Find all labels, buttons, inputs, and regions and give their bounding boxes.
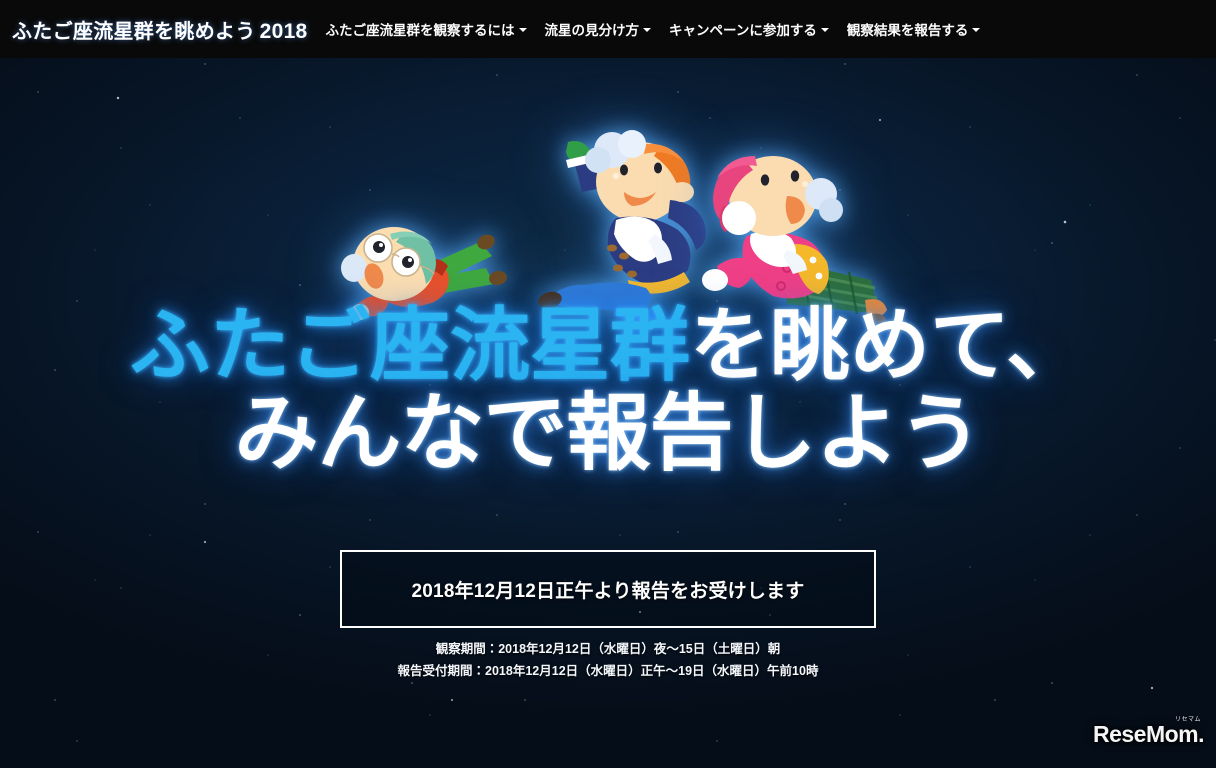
site-brand-logo[interactable]: ふたご座流星群を眺めよう2018 <box>0 15 308 44</box>
nav-item-label: 観察結果を報告する <box>847 19 969 39</box>
navigation-links: ふたご座流星群を観察するには 流星の見分け方 キャンペーンに参加する 観察結果を… <box>326 19 981 39</box>
page-root: ふたご座流星群を眺めよう2018 ふたご座流星群を観察するには 流星の見分け方 … <box>0 0 1216 768</box>
stargazing-illustration <box>330 130 890 330</box>
hero-headline: ふたご座流星群を眺めて、 みんなで報告しよう <box>0 308 1216 473</box>
nav-item-how-to-observe[interactable]: ふたご座流星群を観察するには <box>326 19 527 39</box>
resemom-watermark: リセマム ReseMom. <box>1093 714 1204 748</box>
announcement-box[interactable]: 2018年12月12日正午より報告をお受けします <box>340 550 876 628</box>
top-navigation-bar: ふたご座流星群を眺めよう2018 ふたご座流星群を観察するには 流星の見分け方 … <box>0 0 1216 58</box>
observation-period-note: 観察期間：2018年12月12日（水曜日）夜〜15日（土曜日）朝 <box>0 638 1216 660</box>
headline-highlight: ふたご座流星群 <box>130 301 690 390</box>
nav-item-report-results[interactable]: 観察結果を報告する <box>847 19 981 39</box>
watermark-logo-text: ReseMom. <box>1093 721 1204 748</box>
nav-item-join-campaign[interactable]: キャンペーンに参加する <box>669 19 829 39</box>
nav-item-label: 流星の見分け方 <box>545 19 640 39</box>
nav-item-label: キャンペーンに参加する <box>669 19 817 39</box>
report-period-note: 報告受付期間：2018年12月12日（水曜日）正午〜19日（水曜日）午前10時 <box>0 660 1216 682</box>
nav-item-label: ふたご座流星群を観察するには <box>326 19 515 39</box>
period-notes: 観察期間：2018年12月12日（水曜日）夜〜15日（土曜日）朝 報告受付期間：… <box>0 638 1216 683</box>
chevron-down-icon <box>643 28 651 32</box>
headline-line-2: みんなで報告しよう <box>0 393 1216 474</box>
announcement-text: 2018年12月12日正午より報告をお受けします <box>412 576 805 603</box>
headline-line-1: ふたご座流星群を眺めて、 <box>0 308 1216 385</box>
chevron-down-icon <box>972 28 980 32</box>
brand-title: ふたご座流星群を眺めよう <box>12 21 256 43</box>
chevron-down-icon <box>519 28 527 32</box>
headline-line1-rest: を眺めて、 <box>690 301 1086 390</box>
nav-item-identify-meteors[interactable]: 流星の見分け方 <box>545 19 652 39</box>
chevron-down-icon <box>821 28 829 32</box>
brand-year: 2018 <box>260 20 308 43</box>
hero-section: ふたご座流星群を眺めて、 みんなで報告しよう 2018年12月12日正午より報告… <box>0 58 1216 768</box>
